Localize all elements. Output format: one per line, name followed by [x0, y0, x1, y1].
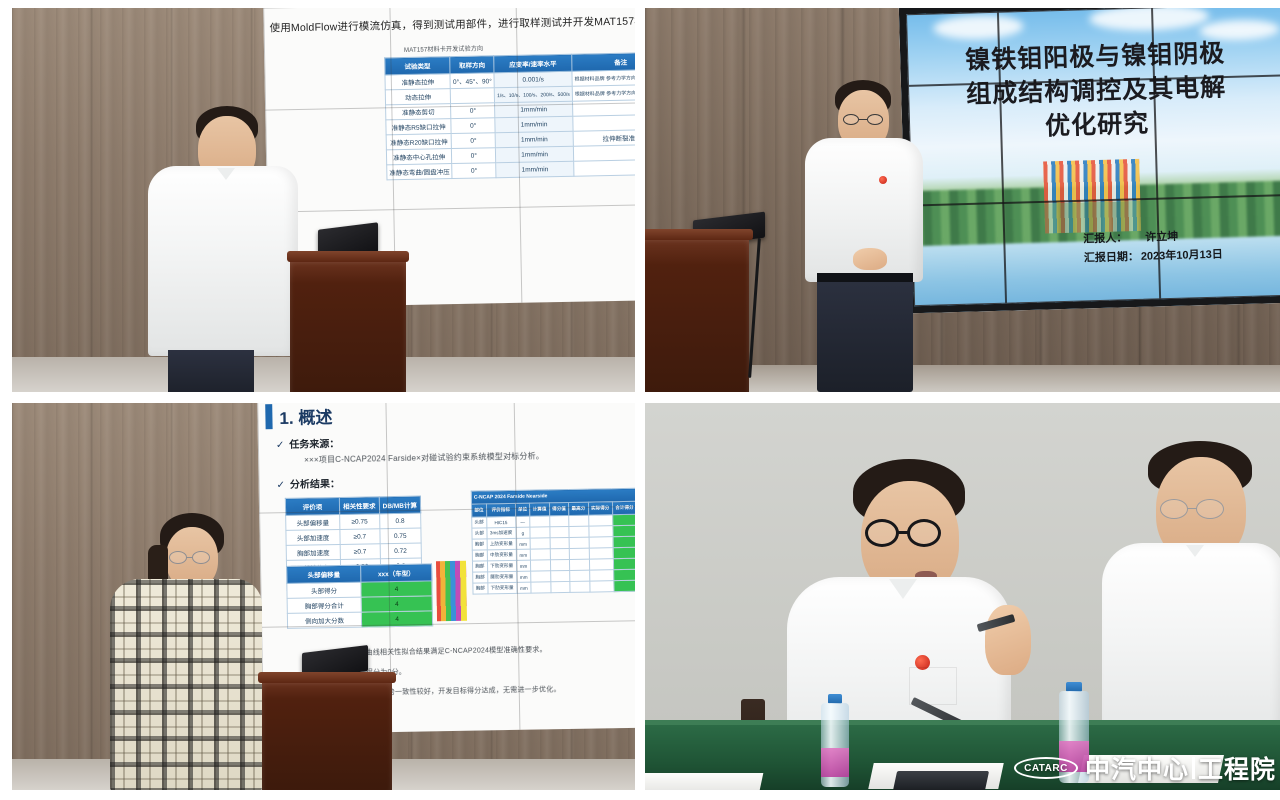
- cell-direction: 0°: [452, 148, 496, 164]
- collage-panel-bottom-right: CATARC 中汽中心 工程院: [645, 403, 1280, 790]
- podium: [262, 679, 392, 790]
- cell-indicator: 中肋变形量: [487, 549, 516, 561]
- glasses-left-lens: [1160, 499, 1188, 519]
- cell-total: [612, 514, 635, 525]
- glasses-bridge: [1187, 508, 1197, 509]
- cell-part: 胸部: [472, 539, 487, 550]
- slide-table-material-card: 试验类型 取样方向 应变率/速率水平 备注 准静态拉伸 0°、45°、90° 0…: [384, 52, 635, 180]
- belt: [817, 273, 913, 282]
- bullet-label: 任务来源：: [289, 435, 339, 451]
- watermark-division: 工程院: [1198, 750, 1276, 786]
- cell-max: [569, 548, 589, 559]
- cell-score-value: 4: [362, 611, 433, 627]
- cell-direction: 0°: [451, 103, 495, 119]
- cell-score-metric: 头部得分: [287, 582, 362, 598]
- cell-indicator: 下肋变形量: [487, 560, 516, 572]
- cell-unit: mm: [516, 582, 531, 593]
- cell-rate: 1mm/min: [496, 146, 574, 162]
- hands-holding-clicker: [853, 248, 887, 270]
- cell-remark: [573, 144, 635, 161]
- cell-indicator: 上肋变形量: [487, 538, 516, 550]
- cell-part: 头部: [472, 528, 487, 539]
- cell-max: [569, 515, 589, 526]
- th-actual: 实际得分: [588, 502, 612, 515]
- cell-test-type: 准静态剪切: [386, 104, 452, 120]
- th-strain-rate: 应变率/速率水平: [494, 54, 572, 72]
- cell-remark: 根据材料品牌 参考力学方向 以及本构用途: [572, 69, 635, 86]
- color-bar-chart: [436, 561, 467, 622]
- slide-table-scores: 头部偏移量 xxx（车型） 头部得分4 胸部得分合计4 侧向加大分数4: [286, 563, 433, 629]
- watermark: CATARC 中汽中心 工程院: [1014, 750, 1276, 786]
- cell-test-type: 准静态R20缺口拉伸: [386, 134, 452, 150]
- cell-remark: [574, 159, 635, 176]
- catarc-logo-icon: CATARC: [1014, 757, 1078, 779]
- th-score-model: xxx（车型）: [361, 564, 432, 582]
- cell-test-type: 准静态R5缺口拉伸: [386, 119, 452, 135]
- cell-calc: [530, 516, 550, 527]
- cell-max: [570, 559, 590, 570]
- document-papers-left: [645, 773, 763, 790]
- cell-actual: [589, 548, 613, 559]
- cell-score: [551, 581, 571, 592]
- th-score: 得分值: [549, 502, 569, 515]
- presenter-label: 汇报人：: [1083, 229, 1128, 249]
- cell-direction: 0°: [451, 118, 495, 134]
- cell-calc: [531, 582, 551, 593]
- shirt-collar: [217, 168, 235, 180]
- collage-gutter-horizontal: [12, 392, 1280, 403]
- glasses-bridge: [186, 557, 193, 558]
- th-remarks: 备注: [572, 52, 635, 71]
- cell-calc: [530, 527, 550, 538]
- cell-indicator: 下肋变形量: [488, 582, 517, 594]
- cell-score-metric: 胸部得分合计: [287, 597, 362, 613]
- th-max: 最高分: [569, 502, 589, 515]
- cell-max: [570, 570, 590, 581]
- cell-total: [613, 536, 635, 547]
- cell-val: 0.8: [379, 513, 421, 529]
- podium-top-surface: [258, 672, 396, 683]
- cell-indicator: HIC15: [486, 516, 515, 528]
- glasses-right-lens: [867, 114, 883, 125]
- cell-total: [613, 547, 635, 558]
- cell-val: 0.75: [379, 528, 421, 544]
- glasses-right-lens: [907, 519, 941, 547]
- cell-direction: 0°、45°、90°: [450, 73, 494, 89]
- table-edge: [645, 720, 1280, 725]
- th-part: 部位: [471, 504, 486, 517]
- cell-unit: mm: [516, 560, 531, 571]
- cell-unit: g: [515, 527, 530, 538]
- cell-score: [550, 537, 570, 548]
- cell-remark: [573, 99, 635, 116]
- cell-actual: [589, 570, 613, 581]
- table-row: 胸部下肋变形量mm: [473, 580, 635, 594]
- led-video-wall: 镍铁钼阳极与镍钼阴极 组成结构调控及其电解 优化研究 汇报人： 许立坤 汇报日期…: [899, 8, 1280, 313]
- th-total: 合计得分: [612, 501, 635, 514]
- cell-score: [550, 570, 570, 581]
- water-bottle-left: [821, 703, 849, 787]
- date-label: 汇报日期：: [1084, 248, 1140, 268]
- slide-presenter-block: 汇报人： 许立坤 汇报日期： 2023年10月13日: [1083, 227, 1223, 268]
- th-computed: DB/MB计算: [379, 496, 421, 514]
- glasses-right-lens: [192, 551, 210, 564]
- cell-test-type: 准静态中心孔拉伸: [386, 149, 452, 165]
- cell-part: 头部: [472, 517, 487, 528]
- cell-calc: [531, 549, 551, 560]
- cell-max: [570, 581, 590, 592]
- cell-score: [549, 515, 569, 526]
- cell-actual: [588, 526, 612, 537]
- slide-footnote-3: 曲线趋势一致性较好，开发目标得分达成，无需进一步优化。: [366, 685, 561, 698]
- glasses-bridge: [859, 119, 867, 120]
- podium: [645, 236, 749, 392]
- watermark-separator: [1192, 757, 1195, 779]
- glasses-bridge: [897, 531, 909, 534]
- cell-score: [550, 526, 570, 537]
- cell-score-metric: 侧向加大分数: [287, 612, 362, 628]
- cell-actual: [589, 559, 613, 570]
- photo-collage: 使用MoldFlow进行模流仿真，得到测试用部件，进行取样测试并开发MAT157…: [0, 0, 1280, 800]
- cell-direction: 0°: [451, 133, 495, 149]
- cell-rate: 0.001/s: [494, 71, 572, 87]
- cell-total: [613, 525, 635, 536]
- bullet-label: 分析结果：: [290, 475, 340, 491]
- cell-remark: [573, 114, 635, 131]
- cell-rate: 1mm/min: [495, 101, 573, 117]
- th-unit: 单位: [515, 503, 530, 516]
- bottle-label: [821, 748, 849, 777]
- trousers: [168, 350, 254, 392]
- cell-total: [613, 558, 635, 569]
- cell-test-type: 准静态弯曲/圆盘冲压: [387, 164, 453, 180]
- glasses-left-lens: [865, 519, 899, 547]
- attendee-person-right: [1100, 441, 1280, 761]
- cell-total: [614, 580, 635, 591]
- catarc-logo-text: CATARC: [1024, 763, 1068, 774]
- cell-req: ≥0.7: [340, 529, 380, 545]
- cell-calc: [530, 538, 550, 549]
- cell-test-type: 准静态拉伸: [385, 74, 451, 90]
- th-requirement: 相关性要求: [339, 497, 379, 515]
- slide-heading-line: 使用MoldFlow进行模流仿真，得到测试用部件，进行取样测试并开发MAT157…: [269, 14, 635, 36]
- th-sampling-direction: 取样方向: [450, 56, 494, 74]
- cell-rate: 1mm/min: [496, 161, 574, 177]
- cell-max: [569, 537, 589, 548]
- cell-remark: 拉伸断裂准则: [573, 129, 635, 146]
- bullet-text: ×××项目C-NCAP2024 Farside×对碰试验约束系统模型对标分析。: [304, 451, 544, 466]
- th-test-type: 试验类型: [385, 57, 451, 75]
- podium-top-surface: [645, 229, 753, 240]
- podium: [290, 258, 406, 392]
- cell-actual: [589, 581, 613, 592]
- collage-panel-top-left: 使用MoldFlow进行模流仿真，得到测试用部件，进行取样测试并开发MAT157…: [12, 8, 635, 392]
- slide-table-caption: MAT157材料卡开发试验方向: [404, 45, 483, 55]
- date-value: 2023年10月13日: [1141, 245, 1223, 266]
- trousers: [817, 276, 913, 392]
- slide-table-cncap-farside: C-NCAP 2024 Farside Nearside 部位 评价指标 单位 …: [471, 488, 635, 595]
- cell-calc: [531, 560, 551, 571]
- cell-test-type: 动态拉伸: [385, 89, 451, 105]
- shirt-collar: [1186, 545, 1204, 557]
- collage-panel-bottom-left: 1. 概述 ✓ 任务来源： ×××项目C-NCAP2024 Farside×对碰…: [12, 403, 635, 790]
- watermark-org-name: 中汽中心: [1085, 750, 1189, 786]
- glasses-right-lens: [1196, 499, 1224, 519]
- cell-max: [569, 526, 589, 537]
- cell-remark: 根据材料品牌 参考力学方向 以及本构用途: [572, 84, 635, 101]
- cell-rate: 1mm/min: [495, 116, 573, 132]
- check-icon: ✓: [276, 440, 285, 451]
- cell-unit: mm: [516, 549, 531, 560]
- cell-indicator: 3ms加速度: [487, 527, 516, 539]
- collage-panel-top-right: 镍铁钼阳极与镍钼阴极 组成结构调控及其电解 优化研究 汇报人： 许立坤 汇报日期…: [645, 8, 1280, 392]
- glasses-left-lens: [843, 114, 859, 125]
- cell-score-value: 4: [361, 581, 432, 597]
- cell-actual: [589, 537, 613, 548]
- check-icon: ✓: [277, 480, 286, 491]
- cell-req: ≥0.75: [340, 514, 380, 530]
- cell-part: 胸部: [473, 572, 488, 583]
- cell-calc: [531, 571, 551, 582]
- torso-shirt: [148, 166, 298, 356]
- cell-unit: —: [515, 516, 530, 527]
- cell-total: [613, 569, 635, 580]
- cell-unit: mm: [516, 571, 531, 582]
- presenter-name: 许立坤: [1145, 228, 1179, 248]
- slide-bullet: ✓ 分析结果：: [276, 475, 340, 491]
- cell-direction: 0°: [452, 163, 496, 179]
- cell-unit: mm: [516, 538, 531, 549]
- slide-footnote-1: 曲线相关性拟合结果满足C-NCAP2024模型准确性要求。: [365, 645, 546, 658]
- cell-part: 胸部: [472, 550, 487, 561]
- cell-rate: 1mm/min: [495, 131, 573, 147]
- cell-part: 胸部: [472, 561, 487, 572]
- tablet-device: [893, 771, 989, 790]
- cell-actual: [588, 515, 612, 526]
- presenter-person: [791, 80, 951, 392]
- colored-pillars: [1043, 159, 1140, 204]
- table-row: 侧向加大分数4: [287, 611, 432, 629]
- cell-score: [550, 559, 570, 570]
- glasses-left-lens: [169, 551, 187, 564]
- cell-part: 胸部: [473, 583, 488, 594]
- cell-req: ≥0.7: [340, 544, 380, 560]
- cell-indicator: 腰肋变形量: [487, 571, 516, 583]
- slide-section-title: 1. 概述: [265, 403, 332, 429]
- podium-top-surface: [287, 251, 410, 262]
- party-emblem-pin: [879, 176, 887, 184]
- plaid-jacket: [110, 579, 262, 790]
- th-calc: 计算值: [530, 503, 550, 516]
- cell-score: [550, 548, 570, 559]
- slide-bullet: ✓ 任务来源：: [276, 435, 340, 451]
- cell-score-value: 4: [361, 596, 432, 612]
- cell-rate: 1/s、10/s、100/s、200/s、500/s: [494, 86, 572, 102]
- shirt-collar: [889, 579, 917, 599]
- watermark-org: 中汽中心 工程院: [1085, 750, 1276, 786]
- th-indicator: 评价指标: [486, 503, 515, 517]
- cell-val: 0.72: [380, 543, 422, 559]
- cell-direction: [451, 88, 495, 104]
